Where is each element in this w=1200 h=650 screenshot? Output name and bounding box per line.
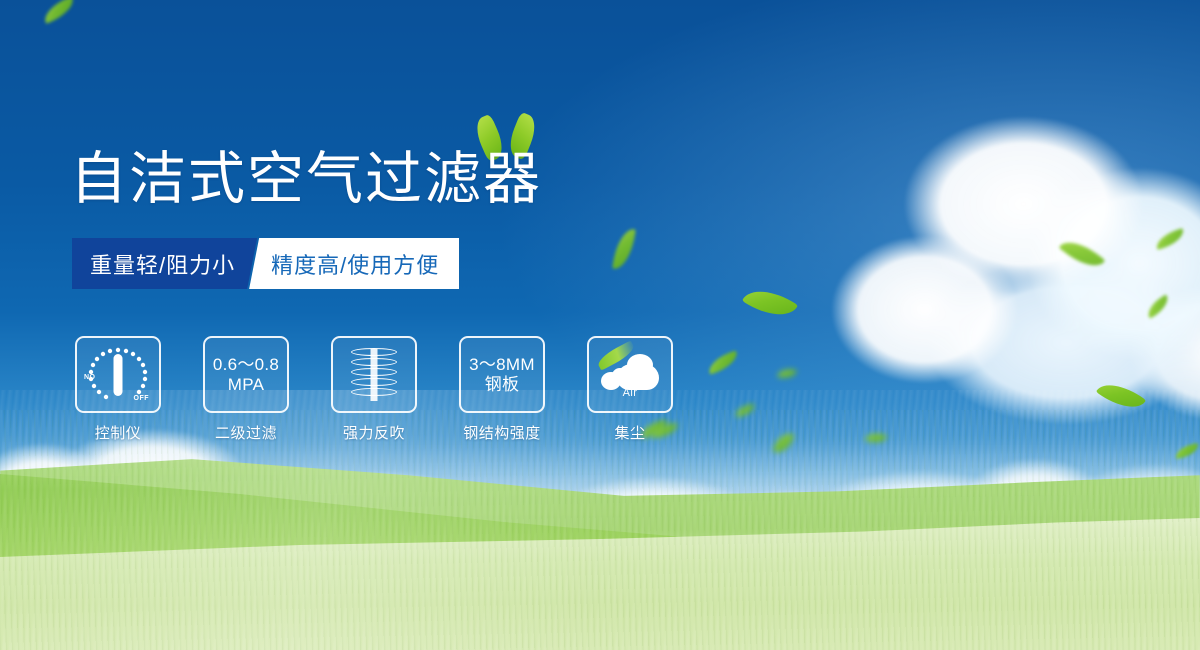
feature-item-filter[interactable]: 0.6〜0.8 MPA 二级过滤	[202, 336, 290, 443]
feature-label: 强力反吹	[343, 422, 405, 443]
pressure-text-icon: 0.6〜0.8 MPA	[213, 355, 279, 395]
coil-ring-icon	[351, 368, 397, 376]
feature-item-blowback[interactable]: 强力反吹	[330, 336, 418, 443]
feature-icon-box: 0.6〜0.8 MPA	[203, 336, 289, 413]
feature-icon-box: 3〜8MM 钢板	[459, 336, 545, 413]
air-label: Air	[601, 387, 659, 399]
coil-ring-icon	[351, 388, 397, 396]
dial-off-label: OFF	[134, 395, 150, 402]
page-title: 自洁式空气过滤器	[70, 148, 542, 210]
cloud-large-right	[830, 105, 1200, 435]
coil-ring-icon	[351, 358, 397, 366]
feature-label: 二级过滤	[215, 422, 277, 443]
coil-ring-icon	[351, 348, 397, 356]
coil-ring-icon	[351, 378, 397, 386]
dial-on-label: NO	[84, 374, 96, 381]
feature-item-steel[interactable]: 3〜8MM 钢板 钢结构强度	[458, 336, 546, 443]
subtitle-bar: 重量轻/阻力小 精度高/使用方便	[72, 238, 459, 289]
cloud-top-icon	[627, 354, 653, 376]
feature-list: NO OFF 控制仪 0.6〜0.8 MPA 二级过滤	[74, 336, 674, 443]
air-cloud-icon: Air	[601, 354, 659, 396]
feature-label: 集尘	[614, 422, 645, 443]
dial-pointer-icon	[114, 354, 123, 396]
feature-item-control[interactable]: NO OFF 控制仪	[74, 336, 162, 443]
hero-banner: 自洁式空气过滤器 重量轻/阻力小 精度高/使用方便	[0, 0, 1200, 650]
feature-item-dust[interactable]: Air 集尘	[586, 336, 674, 443]
coil-blowback-icon	[351, 347, 397, 403]
cloud-puff-icon	[612, 368, 628, 383]
control-dial-icon: NO OFF	[85, 346, 151, 404]
feature-label: 钢结构强度	[463, 422, 541, 443]
subtitle-left-segment: 重量轻/阻力小	[72, 238, 257, 289]
subtitle-right-segment: 精度高/使用方便	[249, 238, 459, 289]
feature-icon-box	[331, 336, 417, 413]
steel-plate-text-icon: 3〜8MM 钢板	[469, 355, 535, 395]
feature-icon-box: Air	[587, 336, 673, 413]
feature-icon-box: NO OFF	[75, 336, 161, 413]
feature-label: 控制仪	[95, 422, 142, 443]
